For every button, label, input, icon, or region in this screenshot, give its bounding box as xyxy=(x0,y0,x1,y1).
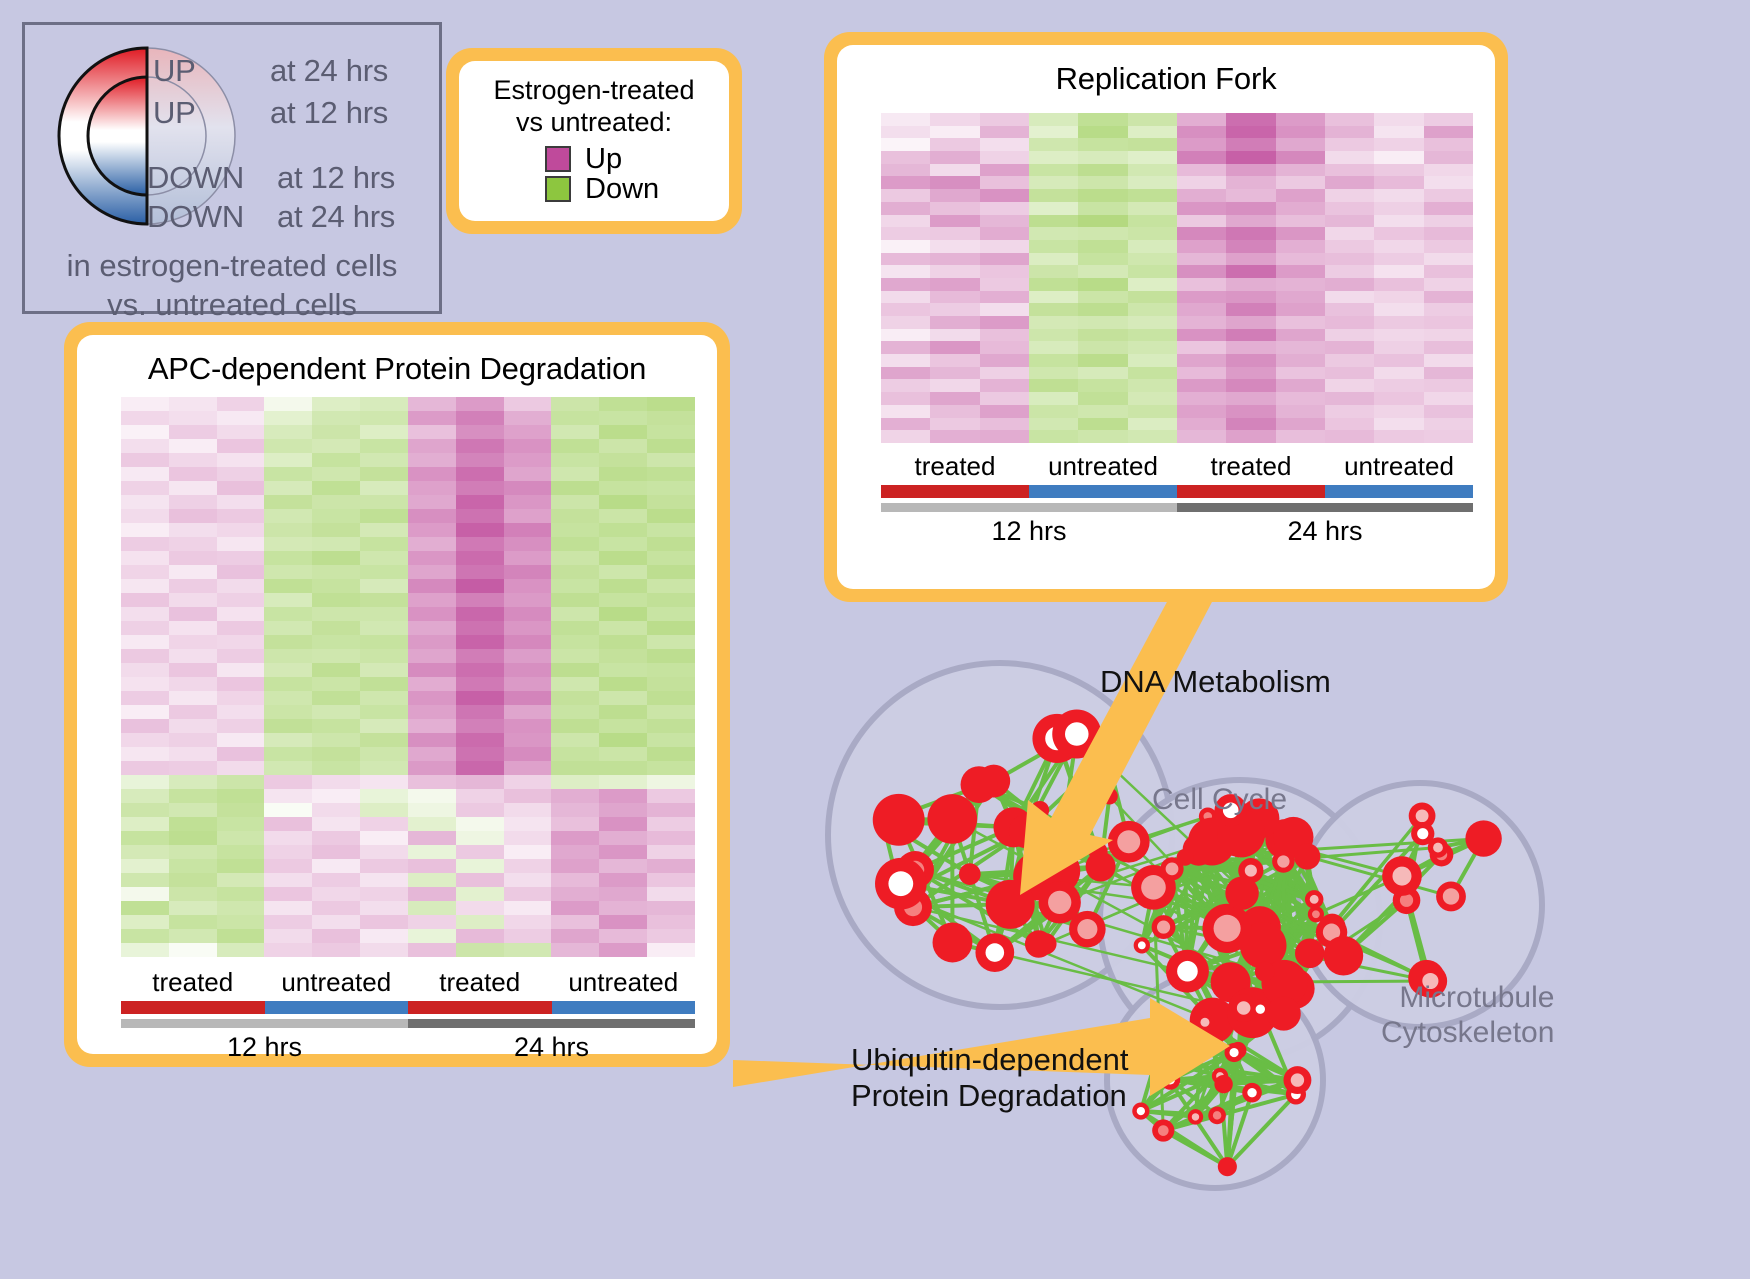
heatmap-cell xyxy=(169,901,217,915)
network-edge xyxy=(1199,850,1316,915)
heatmap-cell xyxy=(1325,265,1374,278)
heatmap-cell xyxy=(264,747,312,761)
network-edge xyxy=(1227,927,1332,928)
network-edge xyxy=(1172,848,1438,869)
heatmap-cell xyxy=(456,859,504,873)
heatmap-cell xyxy=(647,467,695,481)
heatmap-cell xyxy=(1226,278,1275,291)
heatmap-cell xyxy=(408,733,456,747)
heatmap-cell xyxy=(264,859,312,873)
network-edge xyxy=(952,819,995,953)
network-edge xyxy=(1231,982,1277,996)
network-edge xyxy=(1014,734,1077,827)
heatmap-cell xyxy=(169,565,217,579)
heatmap-cell xyxy=(1374,405,1423,418)
network-edge xyxy=(1208,816,1314,899)
network-node xyxy=(1196,1013,1215,1032)
network-node xyxy=(896,851,934,889)
network-edge xyxy=(970,874,1037,876)
network-edge xyxy=(1014,738,1057,827)
group-label-1: untreated xyxy=(265,967,409,998)
network-edge xyxy=(1231,927,1260,982)
heatmap-cell xyxy=(599,761,647,775)
network-node xyxy=(1188,818,1236,866)
network-edge xyxy=(1195,1093,1252,1117)
network-edge xyxy=(1220,1076,1227,1167)
heatmap-cell xyxy=(1029,278,1078,291)
heatmap-cell xyxy=(881,113,930,126)
network-edge xyxy=(1263,946,1284,1014)
heatmap-cell xyxy=(169,733,217,747)
heatmap-cell xyxy=(1424,316,1473,329)
heatmap-cell xyxy=(980,164,1029,177)
heatmap-cell xyxy=(599,509,647,523)
heatmap-cell xyxy=(456,817,504,831)
heatmap-cell xyxy=(121,635,169,649)
up-color-swatch xyxy=(545,146,571,172)
network-edge xyxy=(994,781,1038,876)
network-edge xyxy=(1164,927,1213,1020)
heatmap-cell xyxy=(217,761,265,775)
heatmap-cell xyxy=(599,579,647,593)
heatmap-cell xyxy=(647,859,695,873)
network-edge xyxy=(1109,796,1284,983)
network-edge xyxy=(1014,827,1228,928)
network-node xyxy=(1294,843,1320,869)
heatmap-cell xyxy=(217,915,265,929)
network-edge xyxy=(1039,912,1054,944)
treatment-bar-segment-treated-12 xyxy=(121,1001,265,1014)
group-label-2: treated xyxy=(408,967,552,998)
network-edge xyxy=(1026,734,1077,831)
time-bar-segment-24hrs xyxy=(408,1019,695,1028)
heatmap-cell xyxy=(980,202,1029,215)
network-edge xyxy=(913,907,1231,982)
heatmap-cell xyxy=(360,453,408,467)
heatmap-cell xyxy=(1078,265,1127,278)
heatmap-cell xyxy=(264,915,312,929)
network-edge xyxy=(1187,971,1294,988)
network-edge xyxy=(1199,850,1227,929)
network-edge xyxy=(1294,914,1316,988)
network-edge xyxy=(913,902,1060,907)
network-edge xyxy=(1172,837,1293,869)
heatmap-cell xyxy=(312,411,360,425)
network-edge xyxy=(995,866,1101,952)
network-node-core xyxy=(904,898,922,916)
heatmap-cell xyxy=(1029,379,1078,392)
heatmap-cell xyxy=(599,607,647,621)
network-node xyxy=(1283,1066,1311,1094)
heatmap-cell xyxy=(456,453,504,467)
heatmap-cell xyxy=(169,481,217,495)
network-edge xyxy=(1153,887,1234,1052)
heatmap-cell xyxy=(551,719,599,733)
heatmap-cell xyxy=(360,397,408,411)
heatmap-cell xyxy=(408,691,456,705)
heatmap-cell xyxy=(360,761,408,775)
heatmap-cell xyxy=(647,439,695,453)
network-edge xyxy=(1156,1060,1296,1094)
heatmap-cell xyxy=(881,176,930,189)
network-edge xyxy=(1026,755,1107,831)
heatmap-cell xyxy=(881,392,930,405)
network-edge xyxy=(1220,927,1260,1076)
heatmap-cell xyxy=(312,845,360,859)
heatmap-cell xyxy=(504,397,552,411)
heatmap-cell xyxy=(456,747,504,761)
heatmap-cell xyxy=(217,621,265,635)
heatmap-cell xyxy=(169,607,217,621)
heatmap-cell xyxy=(647,915,695,929)
heatmap-cell xyxy=(1078,341,1127,354)
heatmap-cell xyxy=(217,439,265,453)
heatmap-cell xyxy=(121,593,169,607)
network-edge xyxy=(1212,819,1259,842)
network-edge xyxy=(1276,996,1283,1014)
heatmap-cell xyxy=(456,411,504,425)
heatmap-cell xyxy=(980,418,1029,431)
heatmap-cell xyxy=(1177,329,1226,342)
figure-canvas: UP at 24 hrs UP at 12 hrs DOWN at 12 hrs… xyxy=(0,0,1750,1279)
network-edge xyxy=(1205,1022,1297,1080)
network-edge xyxy=(1170,1080,1223,1084)
network-edge xyxy=(1283,861,1284,982)
heatmap-cell xyxy=(504,635,552,649)
heatmap-cell xyxy=(930,278,979,291)
heatmap-cell xyxy=(930,303,979,316)
heatmap-cell xyxy=(169,593,217,607)
treatment-bar-segment-untreated-12 xyxy=(1029,485,1177,498)
heatmap-cell xyxy=(599,523,647,537)
heatmap-cell xyxy=(1374,329,1423,342)
network-node xyxy=(1088,736,1126,774)
heatmap-cell xyxy=(1177,138,1226,151)
network-node xyxy=(1436,882,1466,912)
network-node-core xyxy=(895,889,905,899)
heatmap-cell xyxy=(360,593,408,607)
heatmap-cell xyxy=(1226,265,1275,278)
network-edge xyxy=(900,894,1212,1020)
heatmap-cell xyxy=(647,551,695,565)
heatmap-replication xyxy=(881,113,1473,443)
network-edge xyxy=(1244,1008,1261,1009)
heatmap-cell xyxy=(1424,253,1473,266)
heatmap-cell xyxy=(312,509,360,523)
heatmap-cell xyxy=(217,901,265,915)
heatmap-cell xyxy=(599,817,647,831)
network-edge xyxy=(1438,839,1484,848)
network-edge xyxy=(1156,1053,1234,1060)
heatmap-cell xyxy=(647,649,695,663)
network-node xyxy=(1033,847,1080,894)
heatmap-cell xyxy=(504,411,552,425)
heatmap-cell xyxy=(647,901,695,915)
heatmap-cell xyxy=(1276,303,1325,316)
heatmap-cell xyxy=(1276,379,1325,392)
heatmap-cell xyxy=(360,495,408,509)
heatmap-cell xyxy=(1078,316,1127,329)
heatmap-cell xyxy=(647,397,695,411)
heatmap-cell xyxy=(408,831,456,845)
cluster-label-microtubule-cytoskeleton: Microtubule Cytoskeleton xyxy=(1381,980,1554,1050)
treatment-bar-segment-treated-24 xyxy=(408,1001,552,1014)
heatmap-cell xyxy=(504,649,552,663)
network-edge xyxy=(1172,869,1251,871)
network-edge xyxy=(1307,856,1314,899)
heatmap-cell xyxy=(980,189,1029,202)
network-node xyxy=(1295,939,1325,969)
heatmap-cell xyxy=(360,887,408,901)
heatmap-cell xyxy=(980,138,1029,151)
network-edge xyxy=(1227,1094,1296,1166)
network-edge xyxy=(1265,899,1314,971)
network-edge xyxy=(1195,1009,1260,1117)
heatmap-cell xyxy=(121,831,169,845)
heatmap-cell xyxy=(121,495,169,509)
network-edge xyxy=(1040,810,1057,871)
heatmap-cell xyxy=(217,495,265,509)
network-edge xyxy=(1172,819,1259,869)
network-edge xyxy=(1185,857,1263,945)
network-edge xyxy=(1195,1050,1238,1117)
heatmap-cell xyxy=(881,265,930,278)
heatmap-cell xyxy=(930,126,979,139)
network-edge xyxy=(1205,1022,1238,1050)
network-edge xyxy=(1040,810,1227,928)
heatmap-cell xyxy=(1029,291,1078,304)
network-edge xyxy=(1220,1076,1297,1080)
heatmap-cell xyxy=(551,887,599,901)
network-node xyxy=(1225,876,1258,909)
group-label-2: treated xyxy=(1177,451,1325,482)
network-node xyxy=(977,765,1010,798)
network-edge xyxy=(1276,927,1332,996)
network-edge xyxy=(1251,871,1277,996)
heatmap-cell xyxy=(1424,379,1473,392)
heatmap-cell xyxy=(1424,189,1473,202)
heatmap-cell xyxy=(121,943,169,957)
heatmap-cell xyxy=(1325,405,1374,418)
heatmap-cell xyxy=(930,379,979,392)
heatmap-cell xyxy=(312,901,360,915)
network-node xyxy=(1142,1046,1169,1073)
network-node xyxy=(1274,968,1315,1009)
heatmap-cell xyxy=(1226,354,1275,367)
network-edge xyxy=(1205,1022,1252,1092)
treatment-bar-segment-untreated-24 xyxy=(552,1001,696,1014)
network-edge xyxy=(1087,842,1128,929)
heatmap-cell xyxy=(647,817,695,831)
heatmap-cell xyxy=(1374,341,1423,354)
heatmap-cell xyxy=(264,705,312,719)
network-edge xyxy=(1199,842,1212,850)
network-node xyxy=(927,794,977,844)
heatmap-cell xyxy=(169,887,217,901)
heatmap-cell xyxy=(647,733,695,747)
network-node xyxy=(1160,1070,1180,1090)
heatmap-cell xyxy=(1424,303,1473,316)
heatmap-cell xyxy=(169,775,217,789)
network-edge xyxy=(1153,869,1172,887)
heatmap-cell xyxy=(217,635,265,649)
heatmap-cell xyxy=(1078,227,1127,240)
heatmap-cell xyxy=(504,915,552,929)
heatmap-cell xyxy=(980,405,1029,418)
heatmap-cell xyxy=(551,453,599,467)
heatmap-cell xyxy=(217,887,265,901)
heatmap-cell xyxy=(599,411,647,425)
network-node-core xyxy=(1138,941,1146,949)
heatmap-cell xyxy=(930,367,979,380)
heatmap-cell xyxy=(360,607,408,621)
heatmap-cell xyxy=(504,453,552,467)
heatmap-cell xyxy=(1029,367,1078,380)
heatmap-cell xyxy=(551,677,599,691)
network-node xyxy=(1188,1109,1203,1124)
network-edge xyxy=(1251,837,1294,871)
heatmap-cell xyxy=(551,621,599,635)
heatmap-cell xyxy=(1128,405,1177,418)
network-node xyxy=(986,880,1035,929)
network-edge xyxy=(1244,989,1295,1008)
heatmap-cell xyxy=(1128,418,1177,431)
heatmap-cell xyxy=(881,253,930,266)
network-edge xyxy=(915,781,994,870)
heatmap-cell xyxy=(408,929,456,943)
network-node xyxy=(933,923,973,963)
heatmap-cell xyxy=(408,817,456,831)
network-edge xyxy=(1101,796,1110,866)
heatmap-cell xyxy=(1276,253,1325,266)
heatmap-cell xyxy=(647,579,695,593)
heatmap-cell xyxy=(1029,164,1078,177)
network-edge xyxy=(913,781,994,907)
heatmap-cell xyxy=(121,789,169,803)
heatmap-cell xyxy=(408,803,456,817)
network-edge xyxy=(1276,953,1309,995)
network-edge xyxy=(883,822,900,895)
network-edge xyxy=(952,785,979,819)
network-edge xyxy=(970,874,1054,912)
network-edge xyxy=(1259,819,1263,946)
heatmap-cell xyxy=(264,845,312,859)
heatmap-cell xyxy=(599,397,647,411)
heatmap-cell xyxy=(551,481,599,495)
heatmap-cell xyxy=(599,677,647,691)
heatmap-cell xyxy=(312,439,360,453)
network-node-core xyxy=(1443,888,1459,904)
heatmap-cell xyxy=(312,747,360,761)
heatmap-cell xyxy=(217,831,265,845)
heatmap-cell xyxy=(169,719,217,733)
network-edge xyxy=(1195,1084,1223,1117)
network-edge xyxy=(1141,1111,1228,1167)
heatmap-cell xyxy=(551,705,599,719)
network-edge xyxy=(1284,927,1332,983)
heatmap-cell xyxy=(121,817,169,831)
heatmap-cell xyxy=(169,523,217,537)
network-edge xyxy=(994,781,1101,866)
network-edge xyxy=(1185,857,1314,899)
legend-footer-line2: vs. untreated cells xyxy=(25,286,439,325)
heatmap-cell xyxy=(408,495,456,509)
heatmap-cell xyxy=(456,929,504,943)
heatmap-cell xyxy=(1374,291,1423,304)
heatmap-cell xyxy=(881,227,930,240)
time-label-24: 24 hrs xyxy=(1177,516,1473,547)
network-edge xyxy=(1172,869,1227,928)
heatmap-cell xyxy=(121,803,169,817)
heatmap-cell xyxy=(1078,240,1127,253)
network-edge xyxy=(1231,810,1260,927)
heatmap-cell xyxy=(121,453,169,467)
network-edge xyxy=(1172,857,1185,869)
network-edge xyxy=(1208,816,1241,833)
network-node xyxy=(1208,1107,1226,1125)
heatmap-cell xyxy=(408,859,456,873)
heatmap-cell xyxy=(599,733,647,747)
heatmap-cell xyxy=(121,481,169,495)
network-edge xyxy=(1205,1009,1260,1022)
heatmap-cell xyxy=(456,733,504,747)
heatmap-cell xyxy=(408,747,456,761)
heatmap-cell xyxy=(121,579,169,593)
network-edge xyxy=(1141,1022,1205,1111)
heatmap-cell xyxy=(264,411,312,425)
network-edge xyxy=(899,819,953,820)
heatmap-cell xyxy=(881,189,930,202)
heatmap-cell xyxy=(1424,430,1473,443)
heatmap-cell xyxy=(1325,367,1374,380)
heatmap-cell xyxy=(930,291,979,304)
network-edge xyxy=(1402,839,1484,877)
network-node-core xyxy=(1392,867,1411,886)
network-edge xyxy=(1141,1050,1238,1111)
heatmap-cell xyxy=(217,663,265,677)
heatmap-cell xyxy=(1177,164,1226,177)
network-edge xyxy=(1039,866,1101,944)
network-edge xyxy=(1227,1008,1243,1167)
network-node-core xyxy=(1137,1107,1145,1115)
heatmap-cell xyxy=(312,551,360,565)
network-edge xyxy=(1164,927,1431,981)
heatmap-cell xyxy=(599,663,647,677)
heatmap-cell xyxy=(217,551,265,565)
treatment-bar-replication xyxy=(881,485,1473,498)
network-edge xyxy=(1195,1053,1234,1117)
heatmap-cell xyxy=(408,579,456,593)
heatmap-cell xyxy=(599,873,647,887)
heatmap-cell xyxy=(504,677,552,691)
network-node xyxy=(1409,802,1436,829)
network-edge xyxy=(1195,1022,1204,1117)
network-node-core xyxy=(1417,828,1428,839)
network-node xyxy=(1393,886,1421,914)
heatmap-cell xyxy=(599,621,647,635)
heatmap-cell xyxy=(1276,164,1325,177)
network-node xyxy=(1009,815,1042,848)
time-bar-apc xyxy=(121,1019,695,1028)
network-node-core xyxy=(1284,979,1304,999)
heatmap-cell xyxy=(1078,418,1127,431)
network-edge xyxy=(1238,1050,1297,1080)
heatmap-cell xyxy=(599,593,647,607)
heatmap-cell xyxy=(504,719,552,733)
legend-time-12-top: at 12 hrs xyxy=(270,95,388,131)
network-node xyxy=(1031,801,1049,819)
network-edge xyxy=(994,781,1057,871)
